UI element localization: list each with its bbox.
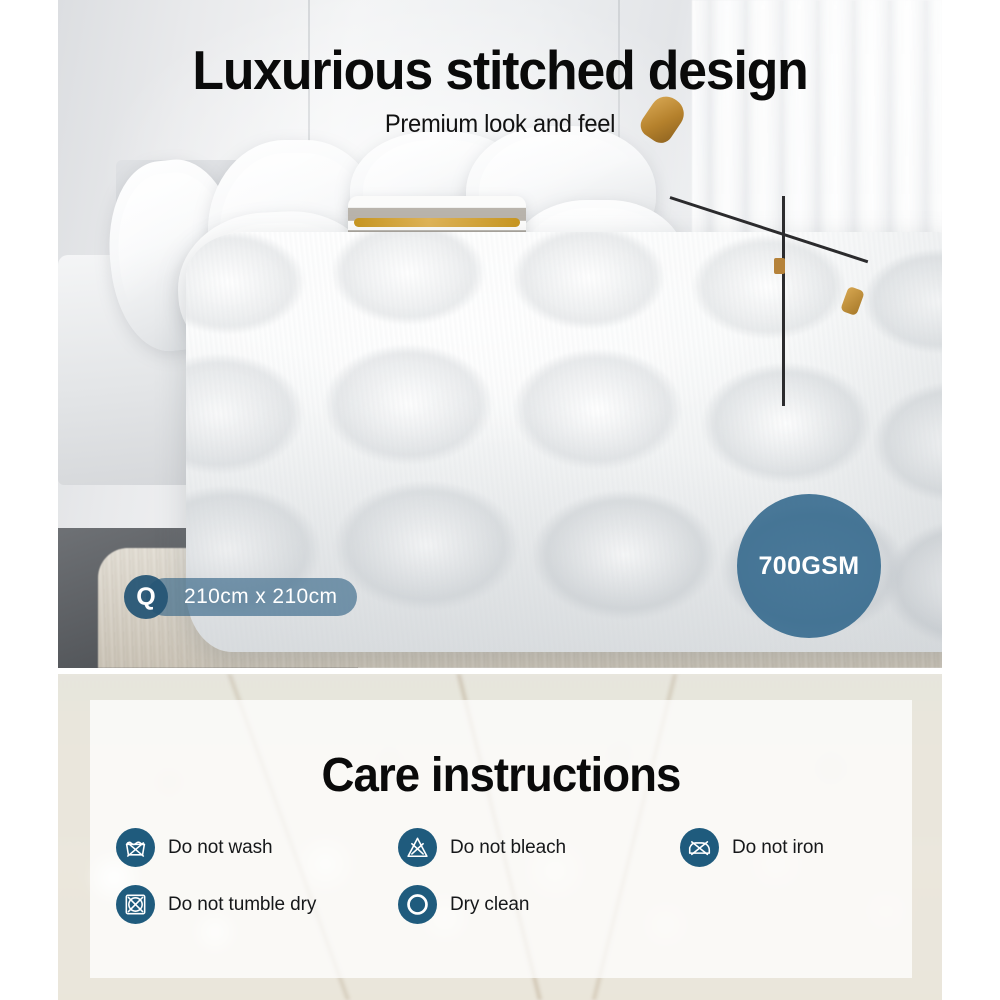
cushion-gold-stripe bbox=[354, 218, 520, 227]
care-item-do-not-tumble-dry: Do not tumble dry bbox=[116, 885, 398, 924]
care-item-do-not-iron: Do not iron bbox=[680, 828, 880, 867]
gsm-badge: 700GSM bbox=[737, 494, 881, 638]
do-not-tumble-dry-icon bbox=[116, 885, 155, 924]
care-item-label: Do not tumble dry bbox=[168, 894, 316, 916]
do-not-wash-icon bbox=[116, 828, 155, 867]
care-card: Care instructions Do not bbox=[90, 700, 912, 978]
size-badge-dimensions: 210cm x 210cm bbox=[146, 578, 357, 616]
size-badge-code: Q bbox=[124, 575, 168, 619]
care-item-label: Dry clean bbox=[450, 894, 529, 916]
hero-subtitle: Premium look and feel bbox=[80, 110, 920, 139]
care-item-label: Do not bleach bbox=[450, 837, 566, 859]
care-item-do-not-bleach: Do not bleach bbox=[398, 828, 680, 867]
product-feature-page: Luxurious stitched design Premium look a… bbox=[0, 0, 1000, 1000]
do-not-bleach-icon bbox=[398, 828, 437, 867]
lamp-pole bbox=[782, 196, 785, 406]
do-not-iron-icon bbox=[680, 828, 719, 867]
hero-bedroom-image: Luxurious stitched design Premium look a… bbox=[58, 0, 942, 668]
size-badge: 210cm x 210cm Q bbox=[124, 575, 168, 619]
care-item-label: Do not wash bbox=[168, 837, 273, 859]
care-item-dry-clean: Dry clean bbox=[398, 885, 680, 924]
care-item-label: Do not iron bbox=[732, 837, 824, 859]
care-icon-grid: Do not wash Do not bleach bbox=[116, 828, 886, 942]
care-item-do-not-wash: Do not wash bbox=[116, 828, 398, 867]
care-instructions-panel: Care instructions Do not bbox=[58, 674, 942, 1000]
hero-title: Luxurious stitched design bbox=[85, 38, 916, 102]
care-title: Care instructions bbox=[111, 748, 892, 803]
care-row: Do not tumble dry Dry clean bbox=[116, 885, 886, 924]
dry-clean-icon bbox=[398, 885, 437, 924]
lamp-joint bbox=[774, 258, 785, 274]
care-row: Do not wash Do not bleach bbox=[116, 828, 886, 867]
